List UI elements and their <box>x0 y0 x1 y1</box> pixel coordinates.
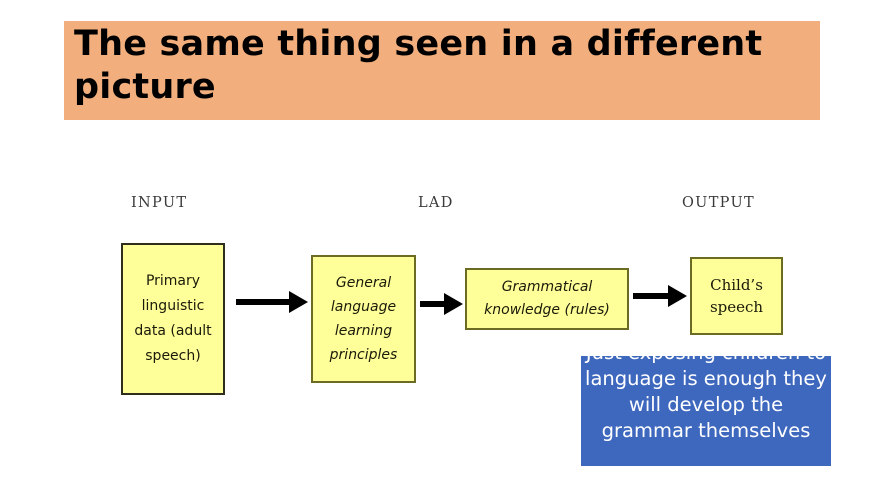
diagram-box-label: Child’s speech <box>692 274 781 318</box>
diagram-box-general-language-learning-principles: General language learning principles <box>311 255 416 383</box>
diagram-box-grammatical-knowledge: Grammatical knowledge (rules) <box>465 268 629 330</box>
diagram-box-label: General language learning principles <box>313 271 414 367</box>
arrow-right-icon <box>236 291 308 313</box>
page-title: The same thing seen in a different pictu… <box>74 23 774 109</box>
diagram-box-label: Grammatical knowledge (rules) <box>467 276 627 322</box>
arrow-shaft <box>236 299 291 305</box>
arrow-right-icon <box>633 285 687 307</box>
diagram-column-header-output: OUTPUT <box>682 195 755 211</box>
slide-canvas: The same thing seen in a different pictu… <box>0 0 880 495</box>
title-banner: The same thing seen in a different pictu… <box>64 21 820 120</box>
arrow-right-icon <box>420 293 463 315</box>
diagram-column-header-lad: LAD <box>418 195 454 211</box>
diagram-box-primary-linguistic-data: Primary linguistic data (adult speech) <box>121 243 225 395</box>
diagram-column-header-input: INPUT <box>131 195 187 211</box>
diagram-box-label: Primary linguistic data (adult speech) <box>123 269 223 369</box>
arrow-head <box>444 293 463 315</box>
diagram-box-childs-speech: Child’s speech <box>690 257 783 335</box>
arrow-head <box>289 291 308 313</box>
arrow-shaft <box>420 301 446 307</box>
callout-text: Just exposing children to language is en… <box>581 340 831 444</box>
arrow-head <box>668 285 687 307</box>
arrow-shaft <box>633 293 670 299</box>
